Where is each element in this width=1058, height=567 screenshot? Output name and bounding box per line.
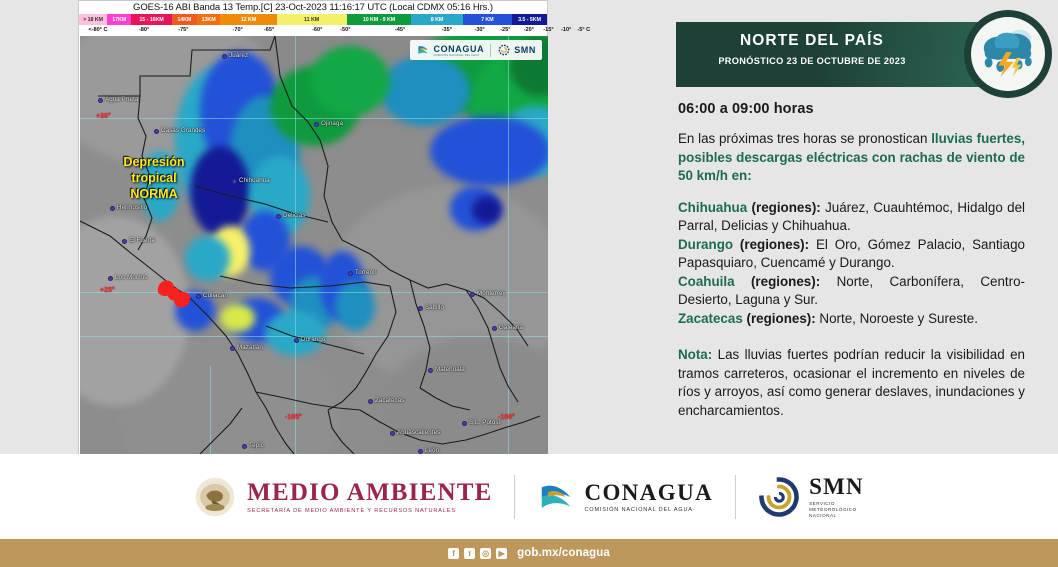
- city-marker: [154, 129, 159, 134]
- colorbar-segment: 12 KM: [220, 14, 276, 25]
- facebook-icon[interactable]: f: [448, 548, 459, 559]
- city-marker: [222, 54, 227, 59]
- city-label: Agua Prieta: [105, 96, 138, 103]
- instagram-icon[interactable]: ◎: [480, 548, 491, 559]
- logo-divider: [490, 44, 491, 57]
- city-label: Delicias: [283, 212, 305, 219]
- region-state-name: Durango: [678, 237, 733, 252]
- temp-tick-label: -70°: [233, 27, 243, 33]
- temp-tick-label: -25°: [500, 27, 510, 33]
- conagua-sub: COMISIÓN NACIONAL DEL AGUA: [433, 54, 484, 57]
- coordinate-label: +25°: [100, 287, 115, 294]
- region-label: (regiones):: [747, 200, 825, 215]
- city-label: Los Mochis: [115, 274, 147, 281]
- coordinate-label: -100°: [498, 414, 515, 421]
- city-label: Galeana: [499, 324, 523, 331]
- smn-spiral-icon: [497, 43, 511, 57]
- conagua-title: CONAGUA: [584, 480, 713, 505]
- medio-ambiente-title: MEDIO AMBIENTE: [247, 479, 492, 506]
- colorbar-segment: 17KM: [107, 14, 131, 25]
- forecast-region-entry: Chihuahua (regiones): Juárez, Cuauhtémoc…: [678, 199, 1025, 236]
- temp-tick-label: -10°: [561, 27, 571, 33]
- city-marker: [122, 239, 127, 244]
- footer-bar: fᴛ◎▶ gob.mx/conagua: [0, 539, 1058, 567]
- map-agency-logos: CONAGUA COMISIÓN NACIONAL DEL AGUA SMN: [410, 40, 542, 60]
- forecast-region-title: NORTE DEL PAÍS: [676, 31, 948, 51]
- city-marker: [110, 206, 115, 211]
- conagua-water-icon: [416, 43, 430, 57]
- smn-subtitle: SERVICIOMETEOROLÓGICONACIONAL: [809, 501, 864, 519]
- conagua-water-icon: [537, 478, 575, 516]
- smn-logo: SMN SERVICIOMETEOROLÓGICONACIONAL: [758, 474, 864, 519]
- city-marker: [368, 399, 373, 404]
- city-label: Juárez: [229, 52, 248, 59]
- colorbar-segment: 11 KM: [277, 14, 347, 25]
- city-marker: [230, 346, 235, 351]
- region-label: (regiones):: [743, 311, 820, 326]
- city-marker: [492, 326, 497, 331]
- city-marker: [390, 431, 395, 436]
- cloud-height-colorbar: > 18 KM17KM15 - 16KM14KM13KM12 KM11 KM10…: [79, 14, 547, 25]
- storm-name-label: DepresióntropicalNORMA: [94, 154, 214, 202]
- twitter-icon[interactable]: ᴛ: [464, 548, 475, 559]
- forecast-time-range: 06:00 a 09:00 horas: [678, 101, 1026, 117]
- smn-title: SMN: [809, 474, 864, 499]
- institutional-logo-bar: MEDIO AMBIENTE SECRETARÍA DE MEDIO AMBIE…: [0, 454, 1058, 539]
- forecast-header-text: NORTE DEL PAÍS PRONÓSTICO 23 DE OCTUBRE …: [676, 31, 948, 69]
- temp-tick-label: -15°: [543, 27, 553, 33]
- note-label: Nota:: [678, 347, 712, 362]
- footer-url[interactable]: gob.mx/conagua: [517, 547, 610, 559]
- city-marker: [348, 271, 353, 276]
- city-marker: [470, 292, 475, 297]
- city-label: Culiacán: [203, 292, 228, 299]
- conagua-subtitle: COMISIÓN NACIONAL DEL AGUA: [584, 507, 713, 513]
- conagua-text: CONAGUA COMISIÓN NACIONAL DEL AGUA: [584, 480, 713, 513]
- city-label: Mazatlán: [237, 344, 263, 351]
- colorbar-segment: 14KM: [172, 14, 197, 25]
- medio-ambiente-logo: MEDIO AMBIENTE SECRETARÍA DE MEDIO AMBIE…: [194, 476, 492, 518]
- region-state-name: Coahuila: [678, 274, 735, 289]
- forecast-body: 06:00 a 09:00 horas En las próximas tres…: [676, 87, 1026, 420]
- forecast-lead-prefix: En las próximas tres horas se pronostica…: [678, 131, 931, 146]
- storm-label-line: NORMA: [94, 186, 214, 202]
- map-smn-logo: SMN: [497, 43, 536, 57]
- colorbar-segment: 15 - 16KM: [131, 14, 171, 25]
- city-marker: [428, 368, 433, 373]
- temp-tick-label: -80°: [139, 27, 149, 33]
- city-marker: [196, 294, 201, 299]
- city-marker: [98, 98, 103, 103]
- region-areas: Norte, Noroeste y Sureste.: [819, 311, 978, 326]
- city-label: S.L. Potosi: [469, 419, 500, 426]
- forecast-panel: NORTE DEL PAÍS PRONÓSTICO 23 DE OCTUBRE …: [676, 22, 1026, 420]
- logo-separator-2: [735, 475, 736, 519]
- city-label: Monterrey: [477, 290, 506, 297]
- medio-ambiente-subtitle: SECRETARÍA DE MEDIO AMBIENTE Y RECURSOS …: [247, 508, 492, 514]
- map-borders: [80, 36, 548, 454]
- map-conagua-logo: CONAGUA COMISIÓN NACIONAL DEL AGUA: [416, 43, 484, 57]
- city-marker: [276, 214, 281, 219]
- colorbar-segment: 13KM: [197, 14, 220, 25]
- temp-tick-label: -5° C: [577, 27, 590, 33]
- temp-tick-label: -45°: [395, 27, 405, 33]
- satellite-title: GOES-16 ABI Banda 13 Temp.[C] 23-Oct-202…: [79, 1, 547, 14]
- city-label: Zacatecas: [375, 397, 404, 404]
- city-marker: [314, 122, 319, 127]
- city-marker: [242, 444, 247, 449]
- city-label: Aguascalientes: [397, 429, 440, 436]
- temp-tick-label: -20°: [524, 27, 534, 33]
- coordinate-label: +30°: [96, 113, 111, 120]
- smn-name: SMN: [514, 45, 536, 55]
- temperature-scale: <-80° C-80°-75°-70°-65°-60°-50°-45°-35°-…: [79, 25, 547, 36]
- temp-tick-label: -50°: [340, 27, 350, 33]
- storm-label-line: Depresión: [94, 154, 214, 170]
- forecast-date: PRONÓSTICO 23 DE OCTUBRE DE 2023: [676, 53, 948, 69]
- note-text: Las lluvias fuertes podrían reducir la v…: [678, 347, 1025, 418]
- city-marker: [462, 421, 467, 426]
- temp-tick-label: -65°: [264, 27, 274, 33]
- temp-tick-label: -30°: [474, 27, 484, 33]
- colorbar-segment: 8 KM: [411, 14, 462, 25]
- weather-badge: [964, 10, 1052, 98]
- infographic-page: GOES-16 ABI Banda 13 Temp.[C] 23-Oct-202…: [0, 0, 1058, 567]
- city-label: Casas Grandes: [161, 127, 205, 134]
- medio-ambiente-text: MEDIO AMBIENTE SECRETARÍA DE MEDIO AMBIE…: [247, 479, 492, 514]
- city-label: León: [425, 447, 439, 454]
- conagua-logo: CONAGUA COMISIÓN NACIONAL DEL AGUA: [537, 478, 713, 516]
- thunderstorm-icon: [977, 23, 1039, 85]
- satellite-image-panel: GOES-16 ABI Banda 13 Temp.[C] 23-Oct-202…: [78, 0, 548, 455]
- temp-tick-label: <-80° C: [88, 27, 107, 33]
- colorbar-segment: 10 KM - 9 KM: [347, 14, 412, 25]
- satellite-imagery: DepresióntropicalNORMA CONAGUA: [80, 36, 548, 454]
- coordinate-label: -105°: [285, 414, 302, 421]
- weather-badge-inner: [971, 17, 1045, 91]
- forecast-note: Nota: Las lluvias fuertes podrían reduci…: [678, 346, 1025, 420]
- city-marker: [418, 306, 423, 311]
- city-label: Ojinaga: [321, 120, 343, 127]
- region-label: (regiones):: [733, 237, 816, 252]
- temp-tick-label: -75°: [178, 27, 188, 33]
- forecast-header: NORTE DEL PAÍS PRONÓSTICO 23 DE OCTUBRE …: [676, 22, 1026, 87]
- conagua-name: CONAGUA: [433, 44, 484, 54]
- city-label: Chihuahua: [239, 177, 270, 184]
- smn-spiral-icon: [758, 476, 800, 518]
- city-label: Durango: [301, 336, 325, 343]
- city-label: Saltillo: [425, 304, 444, 311]
- region-label: (regiones):: [735, 274, 837, 289]
- city-label: Matehuala: [435, 366, 465, 373]
- colorbar-segment: 7 KM: [463, 14, 512, 25]
- forecast-region-entry: Durango (regiones): El Oro, Gómez Palaci…: [678, 236, 1025, 273]
- city-label: El Fuerte: [129, 237, 155, 244]
- forecast-region-entry: Zacatecas (regiones): Norte, Noroeste y …: [678, 310, 1025, 329]
- hurricane-symbol-icon: [152, 272, 196, 316]
- youtube-icon[interactable]: ▶: [496, 548, 507, 559]
- city-marker: [108, 276, 113, 281]
- forecast-region-entry: Coahuila (regiones): Norte, Carbonífera,…: [678, 273, 1025, 310]
- mexico-eagle-emblem: [194, 476, 236, 518]
- city-label: Hermosillo: [117, 204, 147, 211]
- colorbar-segment: 3.5 - 5KM: [512, 14, 547, 25]
- region-state-name: Zacatecas: [678, 311, 743, 326]
- storm-label-line: tropical: [94, 170, 214, 186]
- city-label: Torreón: [355, 269, 377, 276]
- city-marker: [294, 338, 299, 343]
- smn-text: SMN SERVICIOMETEOROLÓGICONACIONAL: [809, 474, 864, 519]
- city-marker: [232, 179, 237, 184]
- forecast-regions-list: Chihuahua (regiones): Juárez, Cuauhtémoc…: [678, 199, 1026, 329]
- social-icons: fᴛ◎▶: [448, 548, 507, 559]
- region-state-name: Chihuahua: [678, 200, 747, 215]
- temp-tick-label: -35°: [442, 27, 452, 33]
- forecast-lead: En las próximas tres horas se pronostica…: [678, 130, 1025, 186]
- temp-tick-label: -60°: [312, 27, 322, 33]
- colorbar-segment: > 18 KM: [79, 14, 107, 25]
- smn-subtitle-line: NACIONAL: [809, 513, 864, 519]
- logo-separator-1: [514, 475, 515, 519]
- city-label: Tepic: [249, 442, 264, 449]
